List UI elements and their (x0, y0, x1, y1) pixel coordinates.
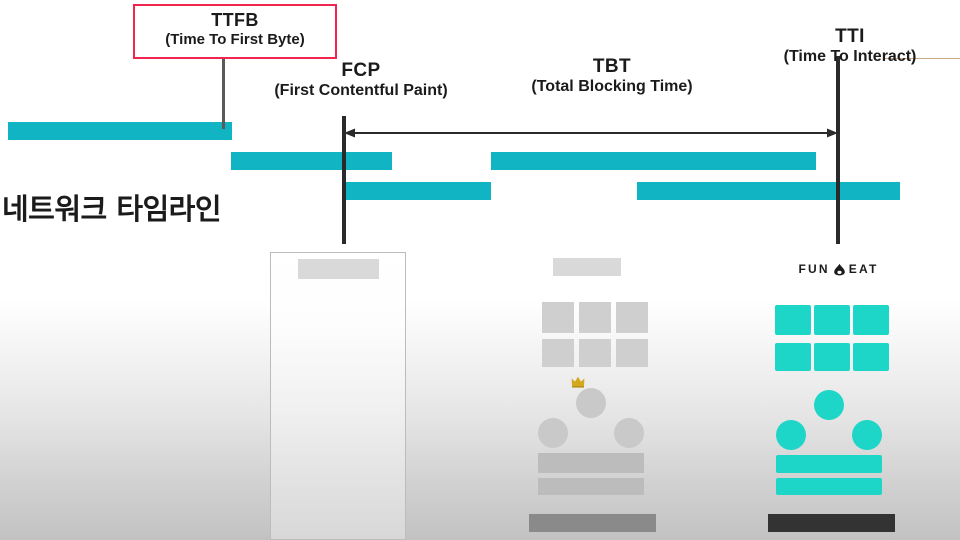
marker-full-tbt: (Total Blocking Time) (498, 78, 726, 97)
marker-abbr-tti: TTI (744, 26, 956, 48)
tbt-span-arrow (344, 127, 838, 139)
timeline-bar (8, 122, 232, 140)
skeleton-avatar (614, 418, 644, 448)
marker-full-tti: (Time To Interact) (744, 48, 956, 67)
marker-label-fcp: FCP (First Contentful Paint) (248, 60, 474, 101)
content-avatar[interactable] (776, 420, 806, 450)
marker-label-tti: TTI (Time To Interact) (744, 26, 956, 67)
timeline-bar (637, 182, 900, 200)
mockup-loaded-phone: FUN EAT (752, 250, 924, 540)
logo-text-left: FUN (799, 262, 830, 276)
marker-label-ttfb: TTFB (Time To First Byte) (133, 4, 337, 59)
slide-canvas: TTFB (Time To First Byte) FCP (First Con… (0, 0, 960, 540)
timeline-bar (344, 182, 491, 200)
mockup-blank-phone (270, 252, 406, 540)
network-timeline-title: 네트워크 타임라인 (2, 186, 221, 228)
marker-full-ttfb: (Time To First Byte) (135, 31, 335, 49)
content-text-line (776, 478, 882, 495)
skeleton-tile (542, 339, 574, 367)
content-tile[interactable] (814, 305, 850, 335)
skeleton-footer-bar (529, 514, 656, 532)
marker-abbr-fcp: FCP (248, 60, 474, 82)
marker-label-tbt: TBT (Total Blocking Time) (498, 56, 726, 97)
marker-full-fcp: (First Contentful Paint) (248, 82, 474, 101)
skeleton-tile (542, 302, 574, 333)
content-text-line (776, 455, 882, 473)
skeleton-avatar (576, 388, 606, 418)
skeleton-tile (579, 339, 611, 367)
content-tile[interactable] (853, 305, 889, 335)
placeholder-header-bar (298, 259, 379, 279)
content-avatar[interactable] (852, 420, 882, 450)
content-footer-bar[interactable] (768, 514, 895, 532)
crown-icon (571, 376, 585, 388)
skeleton-tile (579, 302, 611, 333)
content-tile[interactable] (853, 343, 889, 371)
content-tile[interactable] (775, 343, 811, 371)
app-logo: FUN EAT (781, 260, 896, 278)
timeline-bar (231, 152, 392, 170)
logo-text-right: EAT (849, 262, 879, 276)
marker-abbr-ttfb: TTFB (135, 10, 335, 31)
skeleton-tile (616, 302, 648, 333)
mockup-skeleton-phone (512, 250, 684, 540)
marker-abbr-tbt: TBT (498, 56, 726, 78)
marker-line-tti (836, 56, 840, 244)
skeleton-text-line (538, 453, 644, 473)
skeleton-text-line (538, 478, 644, 495)
skeleton-tile (616, 339, 648, 367)
content-avatar[interactable] (814, 390, 844, 420)
skeleton-header-bar (553, 258, 621, 276)
content-tile[interactable] (814, 343, 850, 371)
content-tile[interactable] (775, 305, 811, 335)
marker-line-ttfb (222, 57, 225, 129)
skeleton-avatar (538, 418, 568, 448)
timeline-bar (491, 152, 816, 170)
rice-bowl-icon (833, 263, 846, 276)
